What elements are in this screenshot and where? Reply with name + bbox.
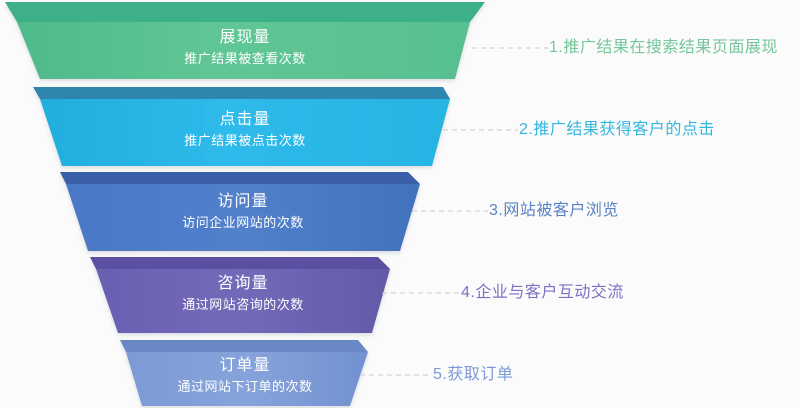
funnel-segment-1-top-face — [5, 2, 485, 22]
funnel-segment-5-top-face — [120, 340, 368, 352]
funnel-segment-3-top-face — [60, 172, 420, 184]
funnel-chart: 展现量 推广结果被查看次数 点击量 推广结果被点击次数 访问量 访问企业网站的次… — [0, 0, 800, 408]
funnel-segment-3-body — [66, 184, 420, 251]
funnel-callout-3: 3.网站被客户浏览 — [489, 201, 619, 221]
funnel-callout-2: 2.推广结果获得客户的点击 — [519, 120, 715, 140]
funnel-segment-2-top-face — [33, 87, 450, 99]
funnel-segment-1-body — [17, 22, 470, 79]
funnel-segment-1[interactable] — [5, 2, 485, 79]
funnel-shapes — [0, 0, 800, 408]
funnel-callout-1: 1.推广结果在搜索结果页面展现 — [549, 38, 778, 58]
funnel-callout-5: 5.获取订单 — [433, 365, 513, 385]
funnel-segment-2-body — [40, 99, 450, 166]
funnel-segment-4-body — [96, 269, 390, 333]
funnel-segment-3[interactable] — [60, 172, 420, 251]
funnel-segment-4-top-face — [90, 257, 390, 269]
funnel-callout-4: 4.企业与客户互动交流 — [461, 283, 624, 303]
funnel-segment-5[interactable] — [120, 340, 368, 406]
funnel-segment-4[interactable] — [90, 257, 390, 333]
funnel-segment-5-body — [126, 352, 368, 406]
funnel-segment-2[interactable] — [33, 87, 450, 166]
